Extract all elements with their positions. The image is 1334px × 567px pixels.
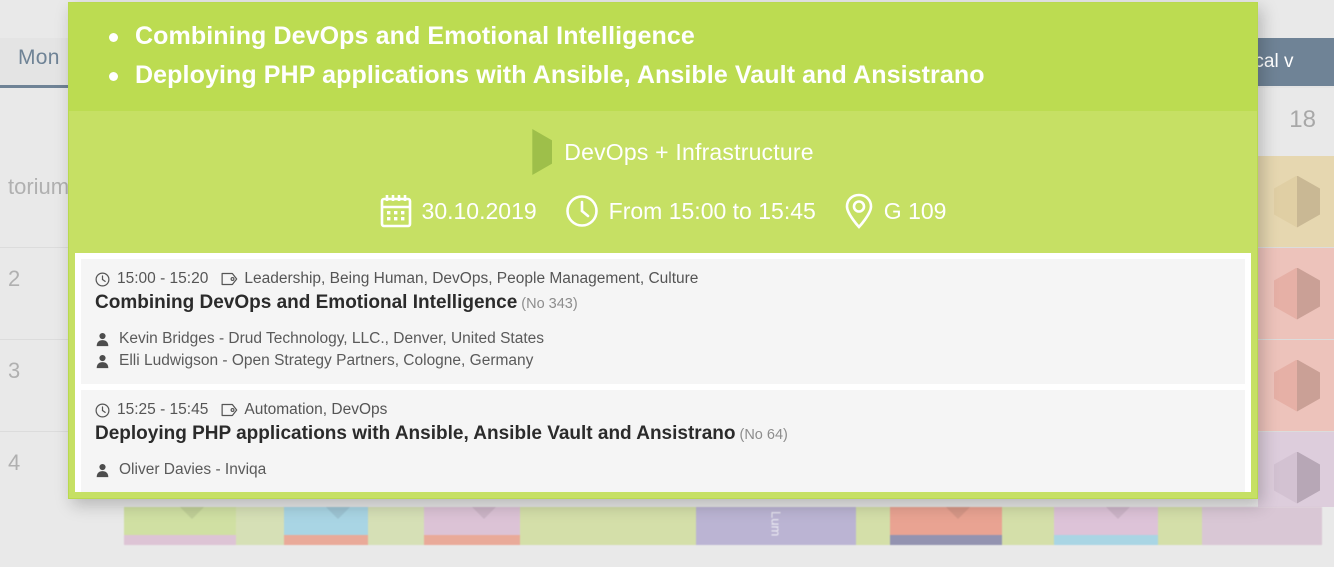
session-meta: 15:00 - 15:20 Leadership, Being Human, D… [95,269,1231,289]
calendar-block[interactable] [124,507,236,545]
session-time: 15:00 - 15:20 [117,269,208,289]
block-notch [472,507,496,519]
calendar-block[interactable] [424,507,520,545]
time-item: From 15:00 to 15:45 [557,194,824,228]
track-hexagon-icon [1274,452,1320,504]
topic-group: Leadership, Being Human, DevOps, People … [221,269,698,289]
session-meta: 15:25 - 15:45 Automation, DevOps [95,400,1231,420]
calendar-block[interactable] [1002,507,1054,545]
calendar-block[interactable] [1054,507,1158,545]
track-hexagon-icon [1274,268,1320,320]
track-hexagon-icon [512,129,552,175]
calendar-block[interactable] [520,507,696,545]
track-name: DevOps + Infrastructure [564,139,813,166]
session-list: 15:00 - 15:20 Leadership, Being Human, D… [75,253,1251,492]
track-hexagon-icon [1274,360,1320,412]
headline-list: Combining DevOps and Emotional Intellige… [99,17,1227,95]
speaker-row: Elli Ludwigson - Open Strategy Partners,… [95,350,1231,372]
schedule-cell[interactable] [1258,156,1334,247]
block-notch [946,507,970,519]
speaker-name: Kevin Bridges - Drud Technology, LLC., D… [119,328,544,350]
schedule-bottom-strip: Lum [0,507,1334,567]
date-text: 30.10.2019 [422,198,537,225]
calendar-block[interactable] [236,507,284,545]
session-topics: Automation, DevOps [244,400,387,420]
tab-monday[interactable]: Mon [18,46,60,70]
calendar-block[interactable] [284,507,368,545]
overlay-headline-area: Combining DevOps and Emotional Intellige… [69,3,1257,111]
speaker-row: Kevin Bridges - Drud Technology, LLC., D… [95,328,1231,350]
meta-line: 30.10.2019 From 15:00 to 15:45 G 109 [69,193,1257,229]
time-axis-label: 18 [1289,106,1316,134]
calendar-block[interactable]: Lum [696,507,856,545]
calendar-block[interactable] [1158,507,1202,545]
speaker-name: Elli Ludwigson - Open Strategy Partners,… [119,350,533,372]
room-label: torium [8,174,69,200]
block-notch [326,507,350,519]
room-label: 2 [8,266,20,292]
overlay-meta-area: DevOps + Infrastructure [69,111,1257,253]
tag-icon [221,403,238,417]
session-number: (No 343) [521,296,577,312]
session-time: 15:25 - 15:45 [117,400,208,420]
calendar-block[interactable] [856,507,890,545]
location-pin-icon [844,193,874,229]
person-icon [95,354,110,369]
schedule-cell[interactable] [1258,248,1334,339]
clock-icon [95,403,110,418]
schedule-cell[interactable] [1258,340,1334,431]
block-notch [180,507,204,519]
speaker-row: Oliver Davies - Inviqa [95,459,1231,481]
room-text: G 109 [884,198,947,225]
room-label: 3 [8,358,20,384]
speaker-list: Kevin Bridges - Drud Technology, LLC., D… [95,328,1231,372]
session-card[interactable]: 15:00 - 15:20 Leadership, Being Human, D… [81,259,1245,384]
clock-icon [95,272,110,287]
session-title-row: Combining DevOps and Emotional Intellige… [95,292,1231,314]
session-card[interactable]: 15:25 - 15:45 Automation, DevOps Deployi… [81,390,1245,492]
session-topics: Leadership, Being Human, DevOps, People … [244,269,698,289]
person-icon [95,332,110,347]
room-label: 4 [8,450,20,476]
speaker-list: Oliver Davies - Inviqa [95,459,1231,481]
calendar-icon [380,194,412,228]
session-title-row: Deploying PHP applications with Ansible,… [95,423,1231,445]
topic-group: Automation, DevOps [221,400,387,420]
calendar-block[interactable] [890,507,1002,545]
session-number: (No 64) [739,427,787,443]
track-hexagon-icon [1274,176,1320,228]
track-row: DevOps + Infrastructure [69,129,1257,175]
block-label: Lum [769,511,784,536]
session-detail-overlay[interactable]: Combining DevOps and Emotional Intellige… [68,2,1258,499]
time-range-text: From 15:00 to 15:45 [609,198,816,225]
clock-icon [565,194,599,228]
tag-icon [221,272,238,286]
calendar-block[interactable] [1202,507,1322,545]
calendar-block[interactable] [368,507,424,545]
speaker-name: Oliver Davies - Inviqa [119,459,266,481]
block-notch [1106,507,1130,519]
date-item: 30.10.2019 [372,194,545,228]
strip-block-list: Lum [124,507,1334,545]
session-title: Combining DevOps and Emotional Intellige… [95,292,517,313]
headline-item: Combining DevOps and Emotional Intellige… [99,17,1227,56]
person-icon [95,463,110,478]
headline-item: Deploying PHP applications with Ansible,… [99,56,1227,95]
session-title: Deploying PHP applications with Ansible,… [95,423,735,444]
room-item: G 109 [836,193,955,229]
